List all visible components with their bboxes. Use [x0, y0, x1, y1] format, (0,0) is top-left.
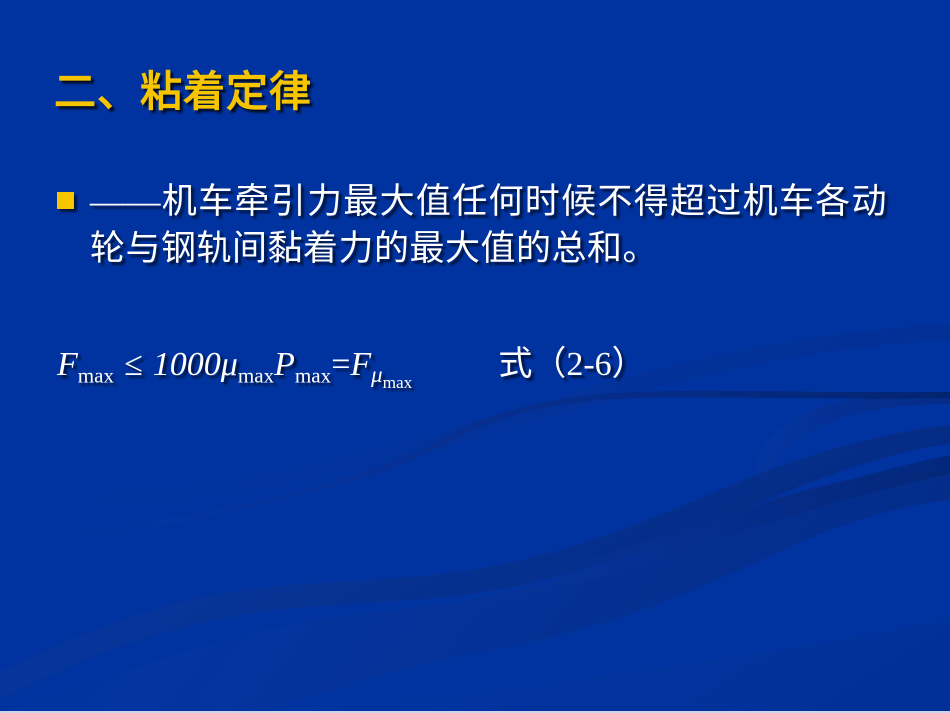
formula-rhs-mu-subscript: max	[383, 373, 413, 392]
formula-p-subscript: max	[295, 363, 331, 387]
slide-content: 二、粘着定律 ——机车牵引力最大值任何时候不得超过机车各动轮与钢轨间黏着力的最大…	[0, 0, 950, 711]
formula-rhs-mu-symbol: μ	[371, 362, 382, 387]
bullet-list-item: ——机车牵引力最大值任何时候不得超过机车各动轮与钢轨间黏着力的最大值的总和。	[57, 178, 887, 272]
formula-mu-symbol: μ	[221, 346, 238, 383]
formula-row: Fmax≤1000μmaxPmax=Fμmax 式（2-6）	[57, 336, 897, 385]
formula-f-symbol: F	[57, 346, 78, 383]
adhesion-law-formula: Fmax≤1000μmaxPmax=Fμmax	[57, 346, 412, 384]
slide: 二、粘着定律 ——机车牵引力最大值任何时候不得超过机车各动轮与钢轨间黏着力的最大…	[0, 0, 950, 713]
page-title: 二、粘着定律	[54, 58, 312, 119]
formula-f-subscript: max	[78, 363, 114, 387]
formula-mu-subscript: max	[238, 363, 274, 387]
formula-rhs-f-symbol: F	[350, 346, 371, 383]
square-bullet-icon	[57, 192, 74, 209]
formula-equals: =	[331, 346, 350, 383]
bullet-item-text: ——机车牵引力最大值任何时候不得超过机车各动轮与钢轨间黏着力的最大值的总和。	[90, 178, 887, 272]
formula-relation: ≤	[114, 346, 153, 383]
formula-coefficient: 1000	[153, 346, 221, 383]
formula-rhs-subscript-group: μmax	[371, 363, 412, 387]
formula-p-symbol: P	[274, 346, 295, 383]
equation-number-label: 式（2-6）	[498, 336, 645, 385]
